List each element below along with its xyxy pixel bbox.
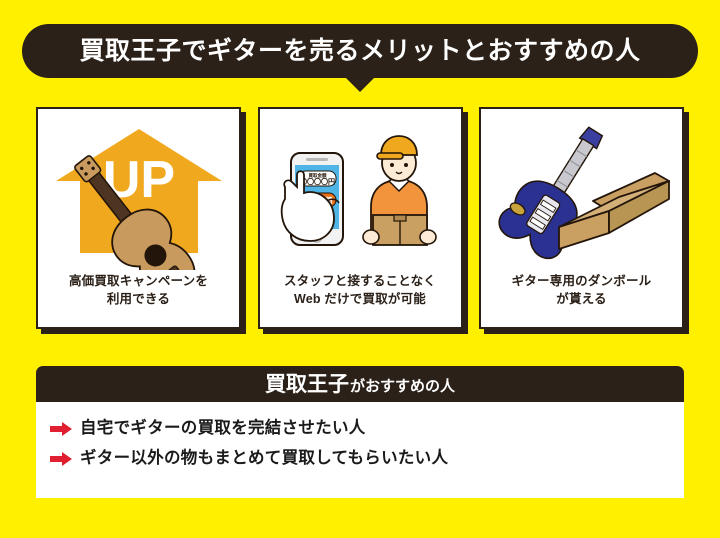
arrow-right-icon — [50, 422, 72, 436]
smartphone-staff-free-icon: 買取金額 〇〇〇〇円 買取依頼 — [267, 115, 453, 270]
price-up-house-guitar-icon: UP — [46, 115, 232, 270]
list-item: ギター以外の物もまとめて買取してもらいたい人 — [50, 450, 684, 467]
arrow-right-icon — [50, 452, 72, 466]
page-title: 買取王子でギターを売るメリットとおすすめの人 — [79, 39, 640, 64]
benefit-card-list: UP 高価買取キャンペーンを 利用できる — [36, 107, 684, 329]
recommendation-list-panel: 自宅でギターの買取を完結させたい人 ギター以外の物もまとめて買取してもらいたい人 — [36, 402, 684, 498]
benefit-card-campaign[interactable]: UP 高価買取キャンペーンを 利用できる — [36, 107, 241, 329]
benefit-card-caption: ギター専用のダンボール が貰える — [512, 272, 652, 308]
svg-text:〇〇〇〇円: 〇〇〇〇円 — [300, 177, 335, 186]
benefit-card-web-only[interactable]: 買取金額 〇〇〇〇円 買取依頼 スタッフと接することなく Web だけで買取が可… — [258, 107, 463, 329]
header-pointer-triangle — [345, 77, 375, 92]
list-item: 自宅でギターの買取を完結させたい人 — [50, 420, 684, 437]
list-item-label: 自宅でギターの買取を完結させたい人 — [80, 420, 366, 437]
list-item-label: ギター以外の物もまとめて買取してもらいたい人 — [80, 450, 448, 467]
subheader-suffix: がおすすめの人 — [350, 379, 455, 394]
benefit-card-caption: スタッフと接することなく Web だけで買取が可能 — [284, 272, 436, 308]
benefit-card-caption: 高価買取キャンペーンを 利用できる — [69, 272, 208, 308]
recommendation-subheader: 買取王子 がおすすめの人 — [36, 366, 684, 402]
main-header-bar: 買取王子でギターを売るメリットとおすすめの人 — [22, 24, 698, 78]
benefit-card-guitar-box[interactable]: ギター専用のダンボール が貰える — [479, 107, 684, 329]
svg-text:買取金額: 買取金額 — [309, 172, 327, 179]
main-header: 買取王子でギターを売るメリットとおすすめの人 — [22, 24, 698, 78]
subheader-brand: 買取王子 — [265, 374, 349, 395]
guitar-cardboard-box-icon — [489, 115, 675, 270]
